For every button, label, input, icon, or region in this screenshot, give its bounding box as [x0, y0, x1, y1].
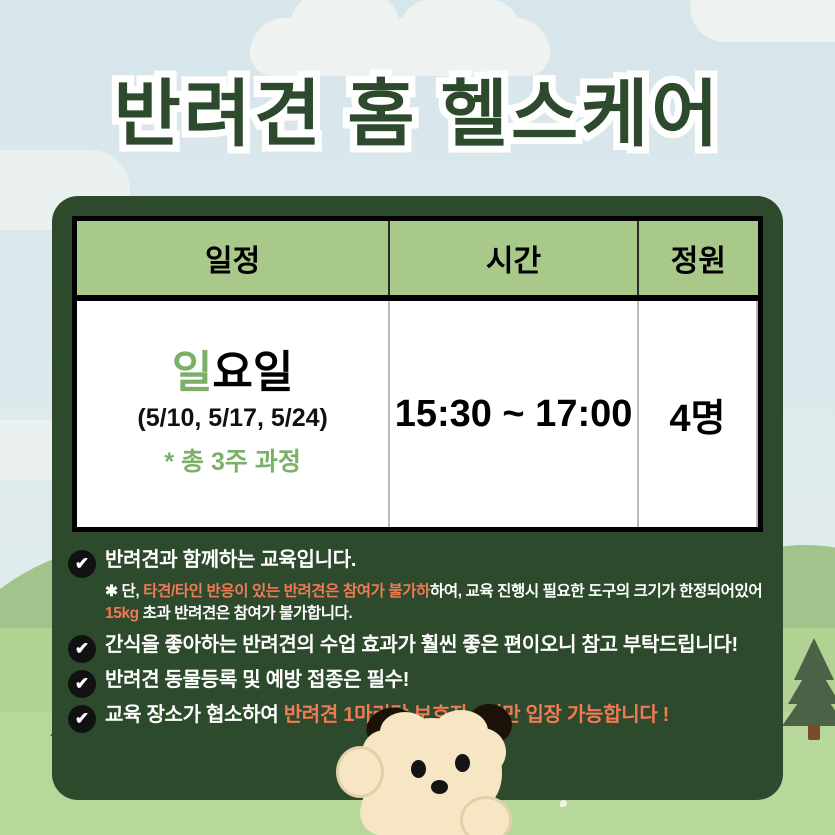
note-sub-white-3: 초과 반려견은 참여가 불가합니다.: [143, 605, 353, 622]
cell-schedule: 일요일 (5/10, 5/17, 5/24) * 총 3주 과정: [77, 301, 390, 527]
page-title: 반려견 홈 헬스케어: [0, 78, 835, 151]
list-item: ✔ 반려견 동물등록 및 예방 접종은 필수!: [68, 668, 768, 698]
table-row: 일요일 (5/10, 5/17, 5/24) * 총 3주 과정 15:30 ~…: [77, 301, 758, 527]
dog-nose-icon: [431, 780, 448, 794]
list-item: ✔ 반려견과 함께하는 교육입니다.: [68, 548, 768, 578]
star-icon: ✱: [105, 583, 118, 600]
dog-paw-icon: [336, 746, 384, 798]
petal-icon: [560, 800, 567, 807]
schedule-day-black: 요일: [212, 348, 293, 397]
check-icon: ✔: [68, 705, 96, 733]
poster-canvas: 반려견 홈 헬스케어 일정 시간 정원 일요일 (5/10, 5/17, 5/2…: [0, 0, 835, 835]
dog-paw-icon: [460, 796, 512, 835]
note-sub-white-2: 하여, 교육 진행시 필요한 도구의 크기가 한정되어있어: [430, 583, 762, 600]
dog-fluff: [380, 712, 430, 752]
cell-time: 15:30 ~ 17:00: [390, 301, 639, 527]
schedule-dates: (5/10, 5/17, 5/24): [137, 404, 327, 433]
schedule-day-green: 일: [172, 348, 212, 397]
schedule-time: 15:30 ~ 17:00: [395, 393, 633, 436]
table-header-time: 시간: [390, 221, 639, 295]
cloud-icon: [690, 0, 835, 42]
info-panel: 일정 시간 정원 일요일 (5/10, 5/17, 5/24) * 총 3주 과…: [52, 196, 783, 800]
list-item: ✔ 간식을 좋아하는 반려견의 수업 효과가 훨씬 좋은 편이오니 참고 부탁드…: [68, 633, 768, 663]
dog-eye-icon: [455, 754, 470, 772]
cloud-icon: [250, 18, 550, 76]
check-icon: ✔: [68, 550, 96, 578]
table-header-schedule: 일정: [77, 221, 390, 295]
note-sub-orange-1: 타견/타인 반응이 있는 반려견은 참여가 불가하: [143, 583, 430, 600]
schedule-weeks: * 총 3주 과정: [164, 442, 300, 478]
cell-capacity: 4명: [639, 301, 758, 527]
note-sub-orange-2: 15kg: [105, 605, 139, 622]
note-text: 반려견 동물등록 및 예방 접종은 필수!: [105, 668, 409, 693]
schedule-capacity: 4명: [669, 387, 725, 442]
note-text: 간식을 좋아하는 반려견의 수업 효과가 훨씬 좋은 편이오니 참고 부탁드립니…: [105, 633, 738, 658]
check-icon: ✔: [68, 635, 96, 663]
dog-fluff: [434, 710, 488, 752]
table-header-capacity: 정원: [639, 221, 758, 295]
note-sub-white-1: 단,: [122, 583, 140, 600]
note-subtext: ✱ 단, 타견/타인 반응이 있는 반려견은 참여가 불가하하여, 교육 진행시…: [105, 581, 768, 626]
check-icon: ✔: [68, 670, 96, 698]
table-header-row: 일정 시간 정원: [77, 221, 758, 301]
note-text: 반려견과 함께하는 교육입니다.: [105, 548, 356, 573]
dog-mascot: [318, 712, 528, 835]
dog-eye-icon: [411, 760, 426, 778]
schedule-table: 일정 시간 정원 일요일 (5/10, 5/17, 5/24) * 총 3주 과…: [72, 216, 763, 532]
notes-list: ✔ 반려견과 함께하는 교육입니다. ✱ 단, 타견/타인 반응이 있는 반려견…: [68, 548, 768, 738]
note-white-part: 교육 장소가 협소하여: [105, 704, 278, 726]
schedule-day: 일요일: [172, 350, 293, 396]
